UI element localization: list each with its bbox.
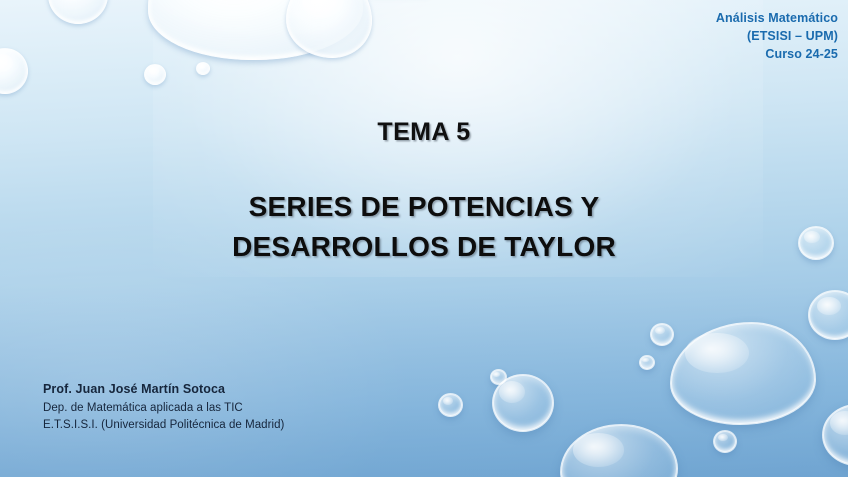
page-subtitle: SERIES DE POTENCIAS Y DESARROLLOS DE TAY… [0,187,848,267]
course-info-header: Análisis Matemático (ETSISI – UPM) Curso… [716,10,838,63]
bubble-icon [438,393,463,417]
bubble-icon [144,64,166,85]
bubble-icon [713,430,737,453]
course-year: Curso 24-25 [716,46,838,64]
bubble-icon [48,0,108,24]
bubble-icon [196,62,210,75]
large-droplet-icon [670,322,816,425]
presentation-slide: Análisis Matemático (ETSISI – UPM) Curso… [0,0,848,477]
author-block: Prof. Juan José Martín Sotoca Dep. de Ma… [43,380,284,435]
page-title: TEMA 5 [0,118,848,147]
large-droplet-icon [492,374,554,432]
bubble-icon [650,323,674,346]
subtitle-line-1: SERIES DE POTENCIAS Y [0,187,848,227]
bubble-icon [639,355,655,370]
course-subject: Análisis Matemático [716,10,838,28]
author-name: Prof. Juan José Martín Sotoca [43,380,284,399]
bubble-icon [0,48,28,94]
title-block: TEMA 5 SERIES DE POTENCIAS Y DESARROLLOS… [0,118,848,267]
course-institute: (ETSISI – UPM) [716,28,838,46]
bubble-icon [808,290,848,340]
subtitle-line-2: DESARROLLOS DE TAYLOR [0,227,848,267]
large-droplet-icon [822,404,848,466]
large-droplet-icon [560,424,678,477]
author-affiliation: E.T.S.I.S.I. (Universidad Politécnica de… [43,417,284,434]
author-department: Dep. de Matemática aplicada a las TIC [43,400,284,417]
